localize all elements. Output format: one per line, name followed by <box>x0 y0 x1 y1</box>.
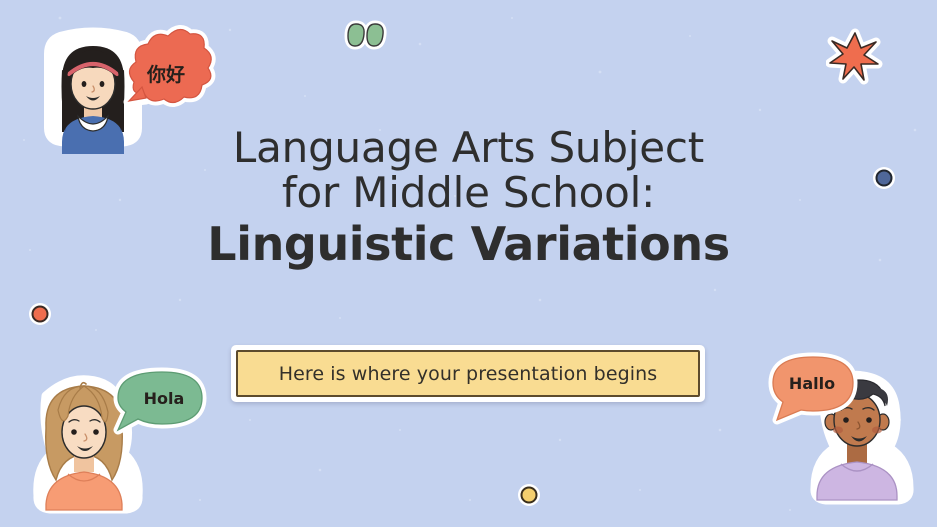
bubble-german-label: Hallo <box>789 374 835 393</box>
speech-bubble-chinese: 你好 <box>118 32 214 124</box>
bubble-spanish-label: Hola <box>144 389 185 408</box>
slide-canvas: Language Arts Subject for Middle School:… <box>0 0 937 527</box>
subtitle-box: Here is where your presentation begins <box>236 350 700 397</box>
title-line-3: Linguistic Variations <box>0 220 937 269</box>
subtitle-banner: Here is where your presentation begins <box>231 345 705 402</box>
bubble-chinese-label: 你好 <box>146 63 185 86</box>
title-line-2: for Middle School: <box>0 171 937 216</box>
navy-dot-decoration <box>871 165 897 195</box>
speech-bubble-spanish: Hola <box>112 360 208 446</box>
yellow-dot-decoration <box>516 482 542 512</box>
star-burst-decoration <box>826 28 884 90</box>
red-dot-decoration <box>27 301 53 331</box>
speech-bubble-german: Hallo <box>765 345 865 433</box>
subtitle-text: Here is where your presentation begins <box>279 363 658 385</box>
quotation-marks-decoration <box>344 18 388 58</box>
woman-illustration <box>46 383 123 510</box>
girl-illustration <box>62 46 125 154</box>
